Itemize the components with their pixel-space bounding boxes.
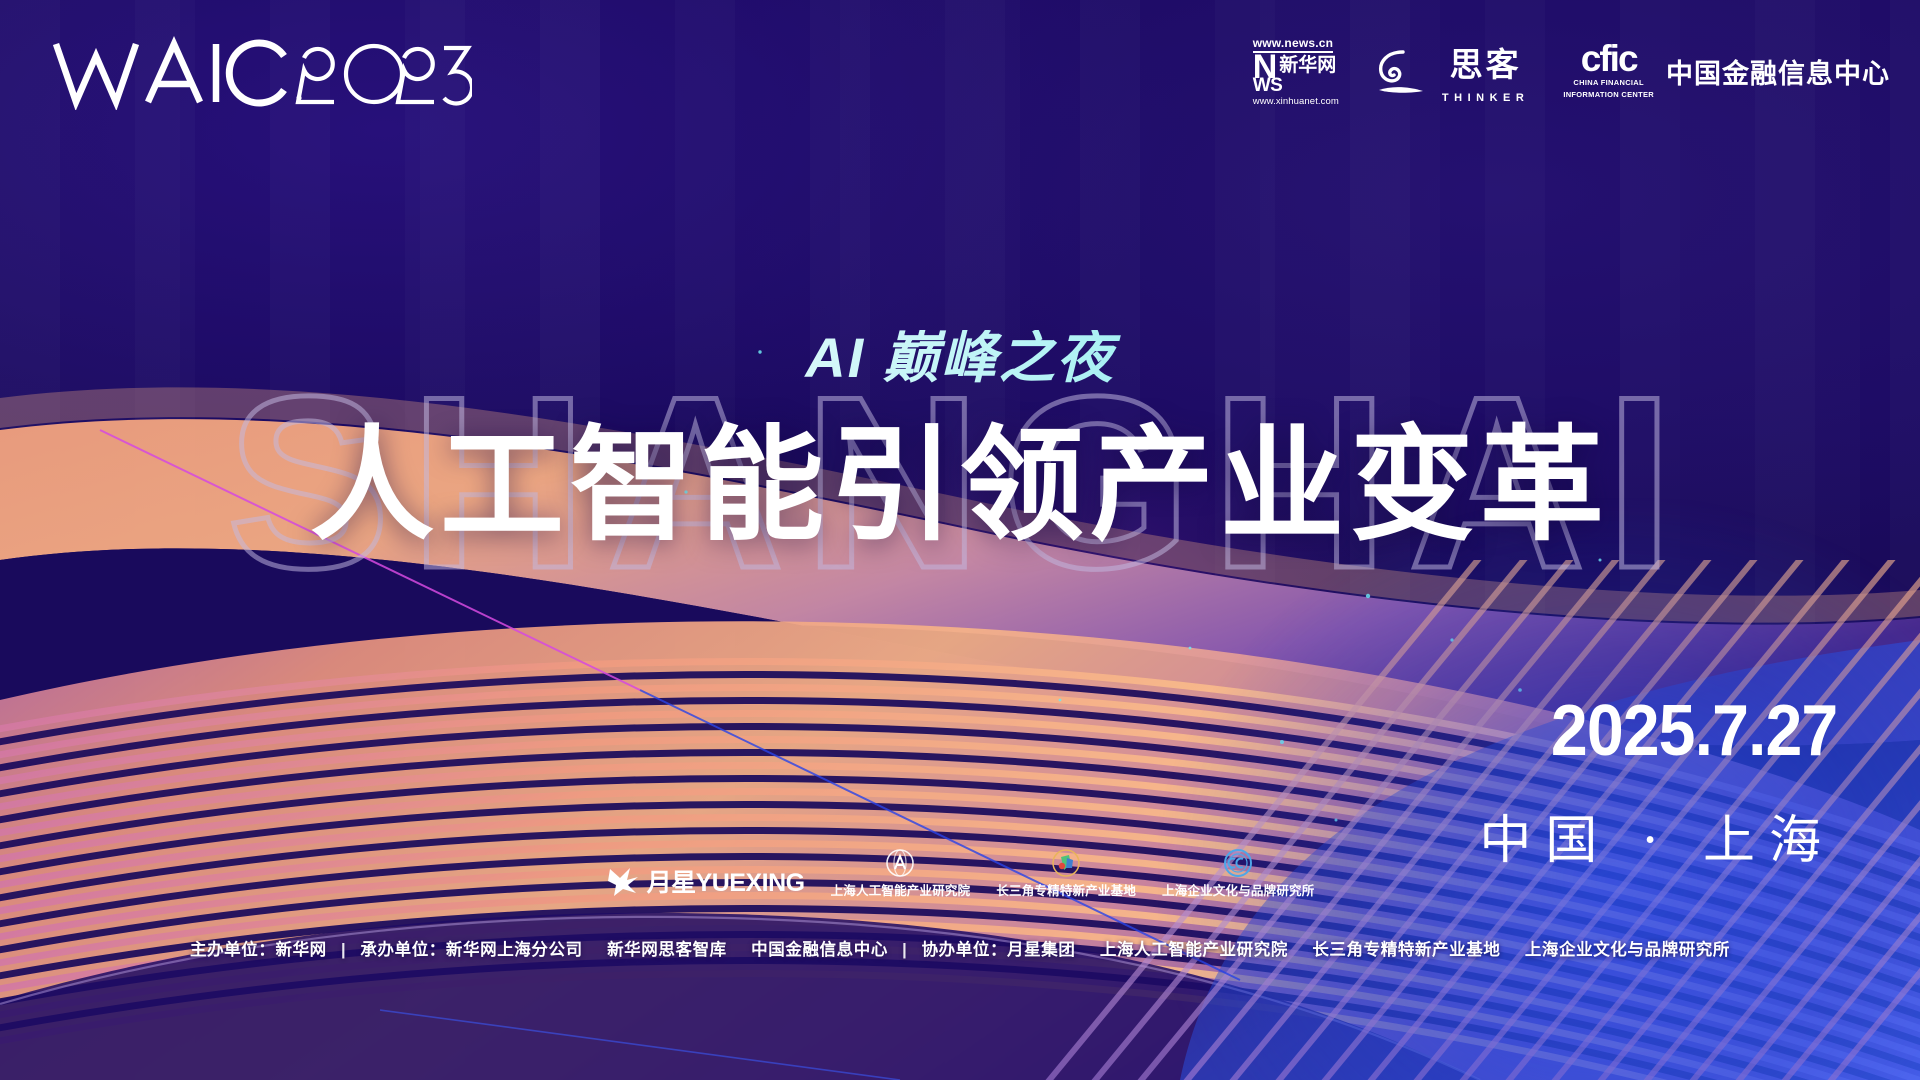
yuexing-en: YUEXING (696, 869, 805, 897)
credits-separator-2: | (893, 941, 916, 959)
credits-organizer-2: 新华网思客智库 (607, 941, 727, 959)
sponsor-yangtze-delta-base: 长三角专精特新产业基地 (996, 848, 1136, 899)
sponsor-yuexing: 月星YUEXING (606, 863, 805, 899)
thinker-en-name: THINKER (1442, 92, 1529, 104)
xinhua-cn-name: 新华网 (1279, 55, 1336, 76)
xinhua-url-bottom: www.xinhuanet.com (1253, 96, 1339, 107)
yuexing-star-icon (606, 865, 640, 897)
cfic-logo: cfic CHINA FINANCIAL INFORMATION CENTER … (1563, 43, 1890, 99)
thinker-logo: 思客 THINKER (1373, 38, 1529, 104)
delta-base-icon (1051, 848, 1081, 878)
event-subtitle: AI 巅峰之夜 (0, 330, 1920, 386)
thinker-cn-name: 思客 (1450, 38, 1522, 86)
cfic-subtitle-line1: CHINA FINANCIAL (1573, 78, 1643, 87)
credits-cohost: 协办单位：月星集团 (922, 941, 1076, 959)
globe-a-icon (885, 848, 915, 878)
event-date: 2025.7.27 (1551, 690, 1837, 772)
thinker-swirl-icon (1373, 46, 1433, 96)
sponsor-corporate-culture-institute: 上海企业文化与品牌研究所 (1162, 848, 1314, 899)
header-logo-group: www.news.cn N 新华网 WS www.xinhuanet.com 思… (1253, 36, 1890, 107)
event-headline: 人工智能引领产业变革 (0, 420, 1920, 554)
credits-organizer: 承办单位：新华网上海分公司 (360, 941, 582, 959)
sponsor-label: 上海人工智能产业研究院 (831, 880, 971, 899)
sponsor-label: 长三角专精特新产业基地 (996, 880, 1136, 899)
sponsor-shanghai-ai-institute: 上海人工智能产业研究院 (831, 848, 971, 899)
blue-glow (1160, 500, 1920, 1080)
waic-logo (52, 36, 472, 110)
yuexing-wordmark: 月星YUEXING (647, 863, 805, 899)
yuexing-cn: 月星 (647, 869, 696, 897)
cc-circle-icon (1223, 848, 1253, 878)
sponsor-logo-row: 月星YUEXING 上海人工智能产业研究院 长三角专精特新产业基地 (0, 848, 1920, 899)
credits-cohost-3: 长三角专精特新产业基地 (1312, 941, 1500, 959)
credits-host: 主办单位：新华网 (190, 941, 327, 959)
credits-separator-1: | (332, 941, 355, 959)
credits-line: 主办单位：新华网 | 承办单位：新华网上海分公司 新华网思客智库 中国金融信息中… (0, 936, 1920, 960)
cfic-subtitle-line2: INFORMATION CENTER (1563, 90, 1654, 99)
xinhua-news-logo: www.news.cn N 新华网 WS www.xinhuanet.com (1253, 36, 1339, 107)
credits-organizer-3: 中国金融信息中心 (751, 941, 888, 959)
xinhua-ws-letters: WS (1253, 77, 1283, 94)
sponsor-label: 上海企业文化与品牌研究所 (1162, 880, 1314, 899)
cfic-cn-name: 中国金融信息中心 (1666, 52, 1890, 91)
poster-canvas: SHANGHAI www.news.cn N 新华网 WS www.xinh (0, 0, 1920, 1080)
credits-cohost-2: 上海人工智能产业研究院 (1100, 941, 1288, 959)
credits-cohost-4: 上海企业文化与品牌研究所 (1525, 941, 1730, 959)
cfic-wordmark: cfic (1581, 43, 1637, 74)
